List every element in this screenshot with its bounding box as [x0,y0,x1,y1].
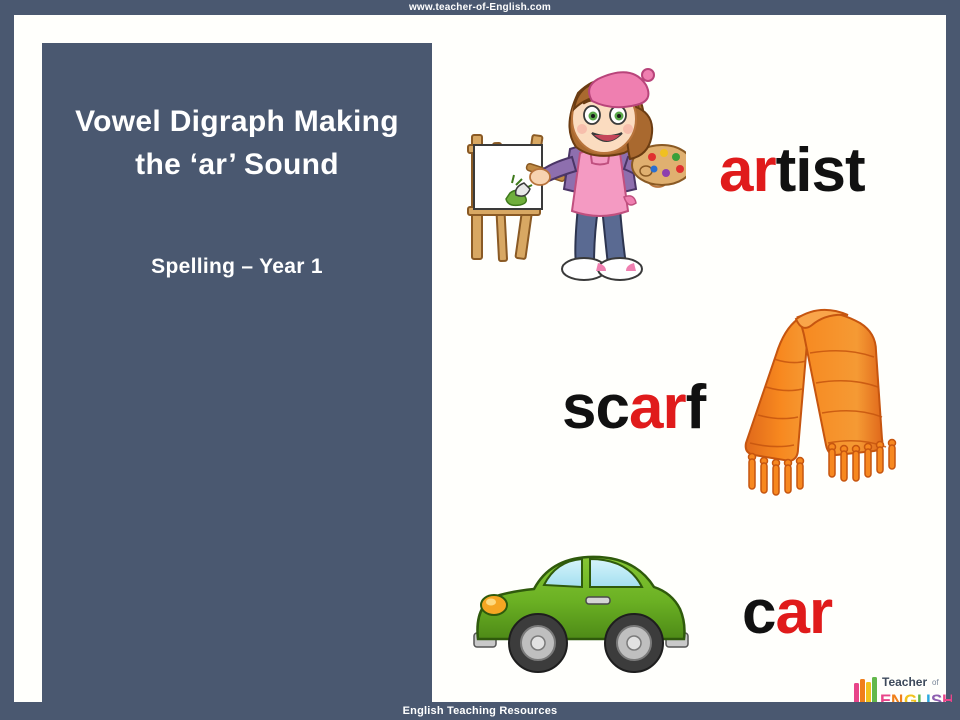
girl-artist-painting-illustration [466,57,686,285]
svg-text:Teacher: Teacher [882,675,927,689]
page-title: Vowel Digraph Making the ‘ar’ Sound [52,101,422,186]
word-car-prefix: c [742,578,775,647]
orange-scarf-illustration [736,291,914,499]
word-artist-highlight: ar [719,136,776,205]
page-title-line2: the ‘ar’ Sound [135,148,339,181]
word-scarf: scarf [562,372,705,443]
word-artist: artist [719,135,865,206]
green-car-illustration [466,517,694,675]
word-car-highlight: ar [775,578,832,647]
word-scarf-highlight: ar [629,373,686,442]
bottom-branding-strip: English Teaching Resources [0,702,960,720]
slide-canvas: artist scarf [14,15,946,702]
svg-text:of: of [932,678,939,687]
word-car: car [742,577,832,648]
page-title-line1: Vowel Digraph Making [75,105,399,138]
page-subtitle: Spelling – Year 1 [52,255,422,279]
word-artist-suffix: tist [776,136,865,205]
top-branding-strip: www.teacher-of-English.com [0,0,960,15]
title-panel: Vowel Digraph Making the ‘ar’ Sound Spel… [42,43,432,709]
word-scarf-prefix: sc [562,373,629,442]
slide: www.teacher-of-English.com [0,0,960,720]
word-scarf-suffix: f [686,373,706,442]
